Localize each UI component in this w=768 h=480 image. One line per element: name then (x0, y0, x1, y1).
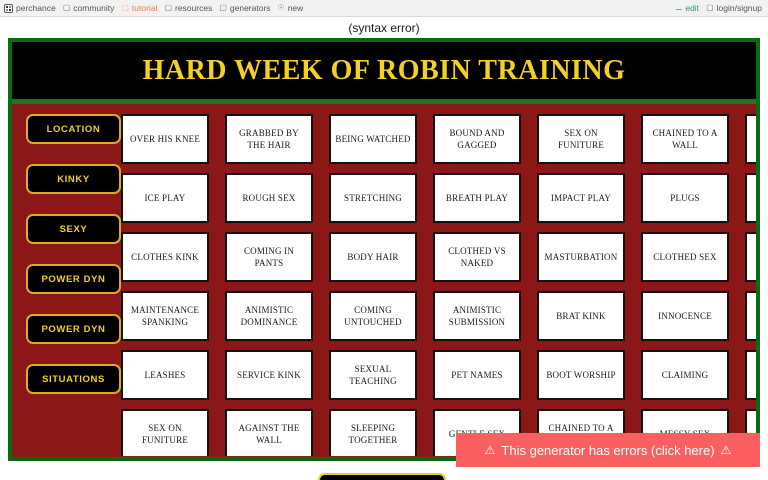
grid-cell[interactable]: JEWELRY (745, 232, 756, 282)
grid-cell[interactable]: IMPACT PLAY (537, 173, 625, 223)
page-root: perchance ▢ community ▢ tutorial ▢ resou… (0, 0, 768, 480)
grid-gap (433, 164, 521, 173)
row-label-situations[interactable]: SITUATIONS (26, 364, 121, 394)
grid-gap (329, 282, 417, 291)
grid-gap (121, 223, 209, 232)
syntax-error-status: (syntax error) (0, 17, 768, 38)
grid-gap (537, 341, 625, 350)
grid-cell[interactable]: STRETCHING (329, 173, 417, 223)
grid-cell[interactable]: BOOT WORSHIP (537, 350, 625, 400)
generator-title-bar: HARD WEEK OF ROBIN TRAINING (12, 42, 756, 104)
grid-gap (329, 341, 417, 350)
row-label-column: LOCATION KINKY SEXY POWER DYN POWER DYN … (12, 114, 121, 414)
nav-item-resources[interactable]: ▢ resources (164, 3, 212, 13)
grid-cell[interactable]: MAINTENANCE SPANKING (121, 291, 209, 341)
nav-item-generators[interactable]: ▢ generators (219, 3, 270, 13)
grid-cell[interactable]: OVER HIS KNEE (121, 114, 209, 164)
nav-item-community[interactable]: ▢ community (63, 3, 115, 13)
grid-cell[interactable]: SEX ON FUNITURE (121, 409, 209, 456)
grid-cell[interactable]: PLUGS (641, 173, 729, 223)
grid-cell[interactable]: SAFEWORDS (745, 350, 756, 400)
grid-column-2: GRABBED BY THE HAIR ROUGH SEX COMING IN … (225, 114, 313, 456)
grid-cell[interactable]: AGAINST THE WALL (225, 409, 313, 456)
grid-cell[interactable]: BRAT KINK (537, 291, 625, 341)
nav-item-new[interactable]: ☉ new (278, 3, 304, 13)
grid-column-7: UNDER THE DESK HEDONISM JEWELRY POSSESSI… (745, 114, 756, 456)
grid-column-5: SEX ON FUNITURE IMPACT PLAY MASTURBATION… (537, 114, 625, 456)
grid-gap (641, 341, 729, 350)
syntax-error-text: (syntax error) (348, 21, 419, 35)
navbar-left-group: perchance ▢ community ▢ tutorial ▢ resou… (4, 3, 675, 13)
grid-cell[interactable]: CLOTHED VS NAKED (433, 232, 521, 282)
grid-cell[interactable]: CLOTHES KINK (121, 232, 209, 282)
box-icon: ▢ (164, 4, 172, 12)
grid-cell[interactable]: ROUGH SEX (225, 173, 313, 223)
grid-column-3: BEING WATCHED STRETCHING BODY HAIR COMIN… (329, 114, 417, 456)
grid-column-6: CHAINED TO A WALL PLUGS CLOTHED SEX INNO… (641, 114, 729, 456)
nav-item-edit[interactable]: ⚊ edit (675, 3, 699, 13)
grid-cell[interactable]: SEX ON FUNITURE (537, 114, 625, 164)
grid-gap (641, 223, 729, 232)
grid-column-1: OVER HIS KNEE ICE PLAY CLOTHES KINK MAIN… (121, 114, 209, 456)
grid-cell[interactable]: COMING UNTOUCHED (329, 291, 417, 341)
grid-gap (537, 223, 625, 232)
grid-cell[interactable]: GRABBED BY THE HAIR (225, 114, 313, 164)
grid-cell[interactable]: HEDONISM (745, 173, 756, 223)
grid-cell[interactable]: BEING WATCHED (329, 114, 417, 164)
grid-cell[interactable]: CLOTHED SEX (641, 232, 729, 282)
grid-gap (121, 400, 209, 409)
grid-gap (433, 341, 521, 350)
grid-gap (745, 400, 756, 409)
error-banner-text: This generator has errors (click here) (501, 443, 714, 458)
list-icon: ▢ (219, 4, 227, 12)
row-label-power-dyn-1[interactable]: POWER DYN (26, 264, 121, 294)
nav-item-label: community (73, 3, 114, 13)
grid-cell[interactable]: COMING IN PANTS (225, 232, 313, 282)
globe-icon: ☉ (278, 4, 285, 12)
pencil-icon: ⚊ (675, 4, 682, 12)
book-icon: ▢ (121, 4, 129, 12)
perchance-logo-icon (4, 4, 13, 13)
row-label-location[interactable]: LOCATION (26, 114, 121, 144)
grid-cell[interactable]: SLEEPING TOGETHER (329, 409, 417, 456)
nav-item-label: resources (175, 3, 212, 13)
grid-cell[interactable]: BOUND AND GAGGED (433, 114, 521, 164)
grid-cell[interactable]: CLAIMING (641, 350, 729, 400)
grid-gap (641, 400, 729, 409)
grid-gap (121, 282, 209, 291)
grid-cell[interactable]: ANIMISTIC DOMINANCE (225, 291, 313, 341)
nav-item-tutorial[interactable]: ▢ tutorial (121, 3, 157, 13)
grid-gap (225, 400, 313, 409)
grid-gap (537, 282, 625, 291)
row-label-power-dyn-2[interactable]: POWER DYN (26, 314, 121, 344)
grid-gap (225, 341, 313, 350)
grid-gap (537, 164, 625, 173)
grid-cell[interactable]: POSSESSIVE ATTENTION (745, 291, 756, 341)
grid-columns: OVER HIS KNEE ICE PLAY CLOTHES KINK MAIN… (121, 114, 756, 456)
user-icon: ▢ (706, 4, 714, 12)
page-title: HARD WEEK OF ROBIN TRAINING (143, 55, 626, 87)
grid-gap (121, 164, 209, 173)
grid-cell[interactable]: SEXUAL TEACHING (329, 350, 417, 400)
grid-cell[interactable]: MASTURBATION (537, 232, 625, 282)
grid-gap (745, 223, 756, 232)
warning-triangle-icon-right: ⚠ (721, 443, 732, 457)
grid-gap (329, 400, 417, 409)
nav-item-login-signup[interactable]: ▢ login/signup (706, 3, 762, 13)
grid-cell[interactable]: BODY HAIR (329, 232, 417, 282)
grid-cell[interactable]: PET NAMES (433, 350, 521, 400)
grid-gap (641, 282, 729, 291)
generator-frame: HARD WEEK OF ROBIN TRAINING LOCATION KIN… (8, 38, 760, 461)
top-navbar: perchance ▢ community ▢ tutorial ▢ resou… (0, 0, 768, 17)
grid-gap (225, 223, 313, 232)
grid-cell[interactable]: LEASHES (121, 350, 209, 400)
grid-gap (225, 282, 313, 291)
nav-item-perchance[interactable]: perchance (4, 3, 56, 13)
row-label-kinky[interactable]: KINKY (26, 164, 121, 194)
people-icon: ▢ (63, 4, 71, 12)
grid-cell[interactable]: SERVICE KINK (225, 350, 313, 400)
nav-item-label: login/signup (717, 3, 762, 13)
grid-gap (433, 282, 521, 291)
grid-cell[interactable]: BREATH PLAY (433, 173, 521, 223)
grid-gap (329, 164, 417, 173)
grid-cell[interactable]: INNOCENCE (641, 291, 729, 341)
nav-item-label: tutorial (132, 3, 158, 13)
grid-gap (745, 164, 756, 173)
grid-cell[interactable]: UNDER THE DESK (745, 114, 756, 164)
bottom-hidden-pill[interactable] (318, 473, 446, 480)
grid-cell[interactable]: CHAINED TO A WALL (641, 114, 729, 164)
grid-cell[interactable]: ANIMISTIC SUBMISSION (433, 291, 521, 341)
grid-gap (329, 223, 417, 232)
grid-gap (537, 400, 625, 409)
generator-body: LOCATION KINKY SEXY POWER DYN POWER DYN … (12, 104, 756, 456)
nav-item-label: generators (230, 3, 271, 13)
grid-gap (121, 341, 209, 350)
nav-item-label: new (288, 3, 304, 13)
grid-gap (433, 400, 521, 409)
nav-item-label: perchance (16, 3, 56, 13)
grid-column-4: BOUND AND GAGGED BREATH PLAY CLOTHED VS … (433, 114, 521, 456)
warning-triangle-icon-left: ⚠ (485, 443, 496, 457)
bingo-grid: LOCATION KINKY SEXY POWER DYN POWER DYN … (12, 114, 756, 456)
grid-gap (745, 341, 756, 350)
grid-cell[interactable]: ICE PLAY (121, 173, 209, 223)
generator-error-banner[interactable]: ⚠ This generator has errors (click here)… (456, 433, 760, 467)
grid-gap (433, 223, 521, 232)
row-label-sexy[interactable]: SEXY (26, 214, 121, 244)
navbar-right-group: ⚊ edit ▢ login/signup (675, 3, 764, 13)
grid-gap (641, 164, 729, 173)
nav-item-label: edit (685, 3, 699, 13)
grid-gap (225, 164, 313, 173)
grid-gap (745, 282, 756, 291)
